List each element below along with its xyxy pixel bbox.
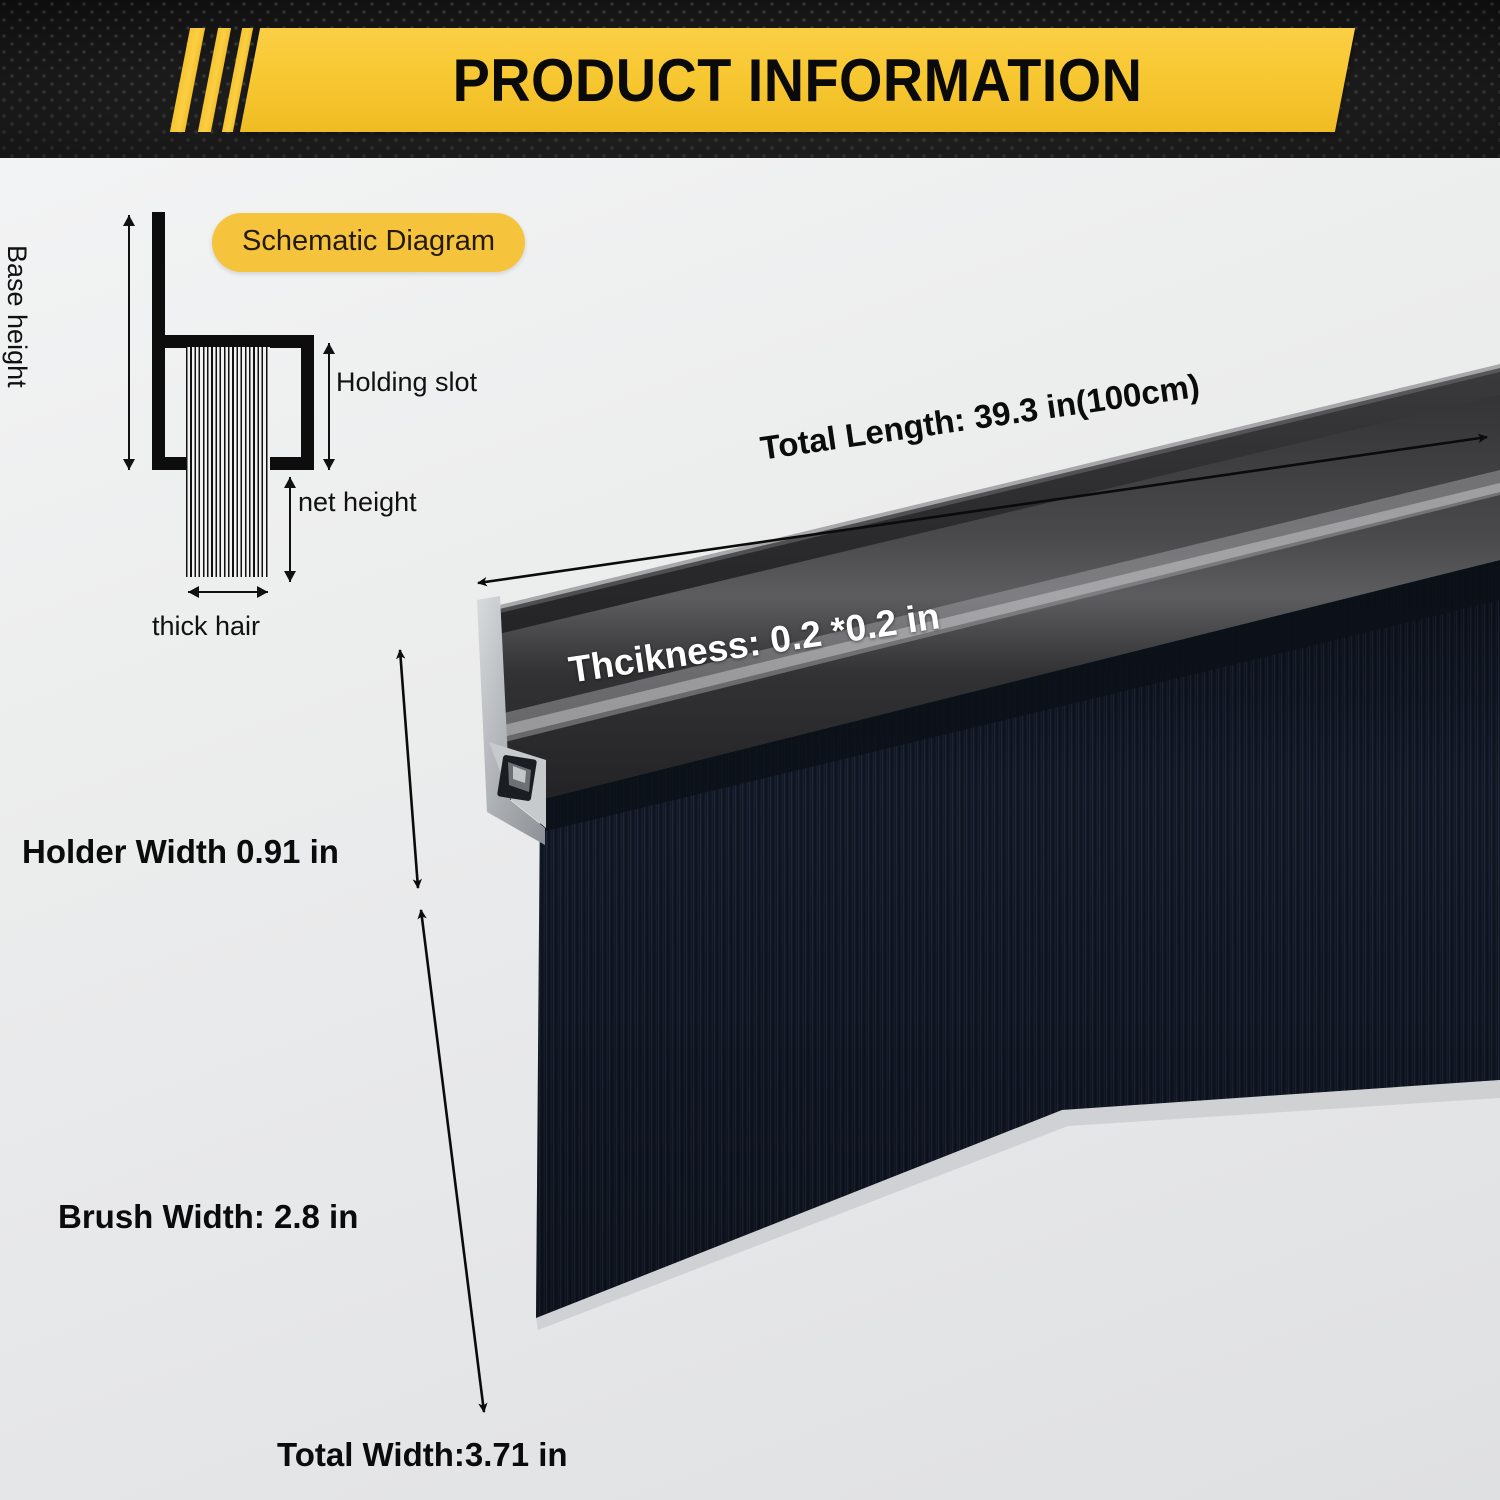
schematic-bristles	[186, 347, 270, 577]
product-information-page: PRODUCT INFORMATION	[0, 0, 1500, 1500]
schematic-badge: Schematic Diagram	[212, 213, 525, 272]
holding-slot-label: Holding slot	[336, 367, 477, 398]
bracket-right-wall	[301, 335, 314, 470]
total-width-label: Total Width:3.71 in	[277, 1436, 568, 1474]
net-height-arrow	[289, 477, 291, 582]
thick-hair-arrow	[188, 591, 268, 593]
holding-slot-arrow	[328, 343, 330, 470]
base-height-label: Base height	[1, 245, 32, 388]
holder-width-label: Holder Width 0.91 in	[22, 833, 339, 871]
header-banner: PRODUCT INFORMATION	[0, 0, 1500, 158]
total-width-arrow	[421, 910, 484, 1412]
bracket-lip-right	[267, 457, 314, 470]
thick-hair-label: thick hair	[152, 611, 260, 642]
thickness-label: Thcikness: 0.2 *0.2 in	[566, 595, 942, 691]
total-length-arrow	[478, 437, 1487, 583]
holder-width-arrow	[400, 650, 418, 888]
brush-width-label: Brush Width: 2.8 in	[58, 1198, 358, 1236]
schematic-diagram: Schematic Diagram Base height Holding sl…	[40, 195, 600, 665]
page-title: PRODUCT INFORMATION	[288, 28, 1306, 132]
base-height-arrow	[128, 215, 130, 470]
net-height-label: net height	[298, 487, 417, 518]
bracket-lip-left	[152, 457, 186, 470]
total-length-label: Total Length: 39.3 in(100cm)	[758, 367, 1202, 468]
